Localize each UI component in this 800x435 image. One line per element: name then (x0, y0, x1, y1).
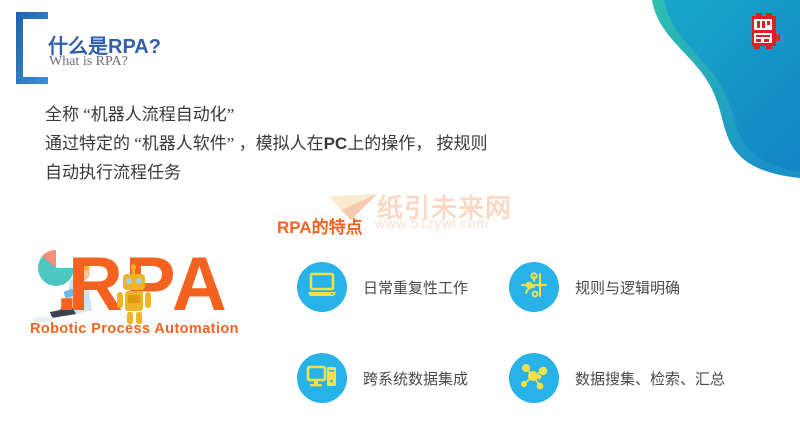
feature-icon-circle (297, 353, 347, 403)
body-line-2-bold: PC (324, 134, 348, 153)
feature-label: 跨系统数据集成 (363, 368, 468, 389)
circuit-logic-icon (518, 269, 550, 306)
laptop-icon (306, 269, 338, 306)
feature-label: 数据搜集、检索、汇总 (575, 368, 725, 389)
desktop-tower-icon (306, 360, 338, 397)
slide-canvas: 什么是RPA? What is RPA? 全称 “机器人流程自动化” 通过特定的… (0, 0, 800, 435)
feature-item-clear-rules-logic[interactable]: 规则与逻辑明确 (509, 262, 680, 312)
company-seal-logo (744, 10, 786, 55)
svg-text:Robotic Process Automation: Robotic Process Automation (30, 321, 239, 337)
watermark-url: www.51zywl.com (375, 215, 489, 231)
molecule-network-icon (518, 360, 550, 397)
feature-icon-circle (297, 262, 347, 312)
page-title-block: 什么是RPA? What is RPA? (14, 10, 314, 88)
feature-label: 规则与逻辑明确 (575, 277, 680, 298)
body-line-2-after: 上的操作， 按规则 (347, 134, 487, 153)
feature-icon-circle (509, 262, 559, 312)
features-heading: RPA的特点 (277, 213, 363, 238)
feature-label: 日常重复性工作 (363, 277, 468, 298)
rpa-logo-illustration: . RPA Robotic Process Automation (12, 222, 270, 340)
svg-text:RPA: RPA (68, 242, 229, 327)
feature-item-daily-repetitive-work[interactable]: 日常重复性工作 (297, 262, 468, 312)
body-paragraph: 全称 “机器人流程自动化” 通过特定的 “机器人软件” ，模拟人在PC上的操作，… (45, 100, 665, 187)
feature-item-data-collection-retrieval-summary[interactable]: 数据搜集、检索、汇总 (509, 353, 725, 403)
body-line-2-before: 通过特定的 “机器人软件” ，模拟人在 (45, 134, 324, 153)
feature-item-cross-system-integration[interactable]: 跨系统数据集成 (297, 353, 468, 403)
page-subtitle: What is RPA? (49, 54, 128, 70)
body-line-1: 全称 “机器人流程自动化” (45, 100, 665, 129)
feature-icon-circle (509, 353, 559, 403)
watermark-text: 纸引未来网 (377, 188, 512, 225)
body-line-3: 自动执行流程任务 (45, 158, 665, 187)
body-line-2: 通过特定的 “机器人软件” ，模拟人在PC上的操作， 按规则 (45, 129, 665, 158)
